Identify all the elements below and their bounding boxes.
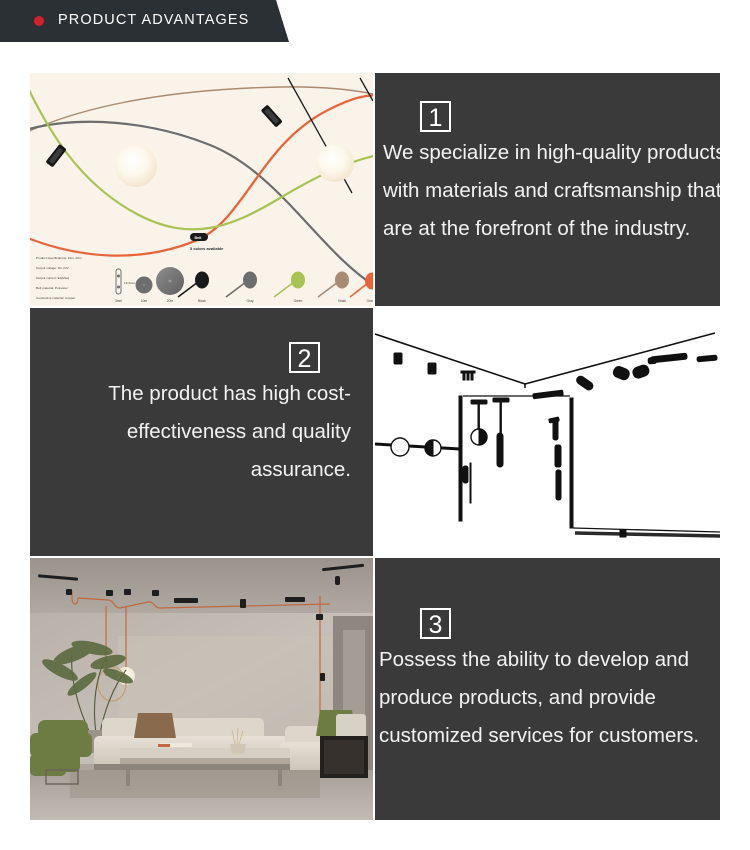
red-dot-icon	[34, 16, 44, 26]
svg-text:3mm: 3mm	[115, 299, 122, 303]
advantage-cell-1: 1 We specialize in high-quality products…	[375, 58, 720, 306]
svg-text:Green: Green	[294, 299, 303, 303]
svg-text:Output voltage: DC 24V: Output voltage: DC 24V	[36, 266, 70, 270]
magnetic-track-lighting-system-diagram	[375, 308, 720, 556]
modern-living-room-track-lighting-photo	[30, 558, 373, 820]
advantage-number-badge-1: 1	[420, 101, 451, 132]
svg-text:Orange: Orange	[367, 299, 373, 303]
advantage-panel-2: 2 The product has high cost-effectivenes…	[30, 308, 373, 556]
svg-text:16.3mm: 16.3mm	[124, 281, 136, 285]
svg-text:Conductive material: Copper: Conductive material: Copper	[36, 296, 75, 300]
advantages-grid: Product specifications: 10m, 20m Output …	[30, 58, 720, 820]
advantage-number-badge-2: 2	[289, 342, 320, 373]
svg-text:10m: 10m	[141, 299, 148, 303]
section-header: PRODUCT ADVANTAGES	[0, 0, 750, 42]
track-diagram-cell	[375, 308, 720, 556]
svg-text:Belt material: Polyester: Belt material: Polyester	[36, 286, 68, 290]
svg-text:Output current: 9A(Max): Output current: 9A(Max)	[36, 276, 69, 280]
svg-text:20m: 20m	[167, 299, 174, 303]
svg-text:Belt: Belt	[195, 236, 203, 240]
advantage-panel-3: 3 Possess the ability to develop and pro…	[375, 558, 720, 820]
advantage-text-1: We specialize in high-quality products, …	[375, 134, 720, 248]
belt-track-specification-illustration: Product specifications: 10m, 20m Output …	[30, 73, 373, 306]
advantage-number-badge-3: 3	[420, 608, 451, 639]
advantage-panel-1: 1 We specialize in high-quality products…	[375, 73, 720, 306]
svg-text:Khaki: Khaki	[338, 299, 346, 303]
advantage-text-3: Possess the ability to develop and produ…	[375, 641, 720, 755]
svg-text:5 colors available: 5 colors available	[190, 246, 224, 251]
spec-image-cell: Product specifications: 10m, 20m Output …	[30, 58, 373, 306]
svg-text:Product specifications: 10m, 2: Product specifications: 10m, 20m	[36, 256, 82, 260]
advantage-cell-3: 3 Possess the ability to develop and pro…	[375, 558, 720, 820]
advantage-cell-2: 2 The product has high cost-effectivenes…	[30, 308, 373, 556]
page-title: PRODUCT ADVANTAGES	[58, 12, 249, 28]
svg-text:Black: Black	[198, 299, 206, 303]
advantage-text-2: The product has high cost-effectiveness …	[30, 375, 373, 489]
svg-text:Gray: Gray	[247, 299, 254, 303]
room-photo-cell	[30, 558, 373, 820]
product-advantages-section: PRODUCT ADVANTAGES	[0, 0, 750, 850]
